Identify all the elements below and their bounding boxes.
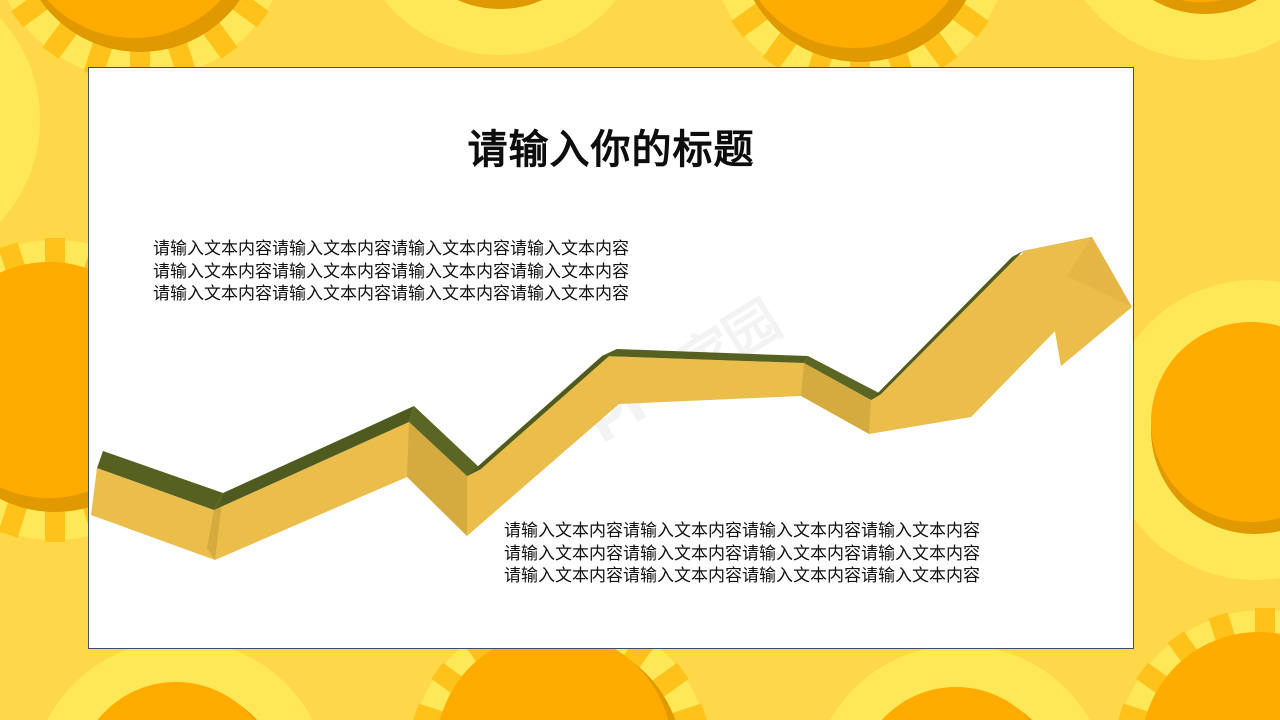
body-text-top: 请输入文本内容请输入文本内容请输入文本内容请输入文本内容 请输入文本内容请输入文… (153, 238, 629, 306)
arrow-head (971, 237, 1132, 417)
page-title: 请输入你的标题 (89, 128, 1133, 172)
slide-canvas: PPT家园 (0, 0, 1280, 720)
body-text-top-line: 请输入文本内容请输入文本内容请输入文本内容请输入文本内容 (153, 283, 629, 306)
body-text-bottom-line: 请输入文本内容请输入文本内容请输入文本内容请输入文本内容 (504, 565, 980, 588)
slide-content-panel: PPT家园 (88, 67, 1134, 649)
body-text-top-line: 请输入文本内容请输入文本内容请输入文本内容请输入文本内容 (153, 261, 629, 284)
body-text-bottom: 请输入文本内容请输入文本内容请输入文本内容请输入文本内容 请输入文本内容请输入文… (504, 520, 980, 588)
body-text-bottom-line: 请输入文本内容请输入文本内容请输入文本内容请输入文本内容 (504, 543, 980, 566)
body-text-bottom-line: 请输入文本内容请输入文本内容请输入文本内容请输入文本内容 (504, 520, 980, 543)
body-text-top-line: 请输入文本内容请输入文本内容请输入文本内容请输入文本内容 (153, 238, 629, 261)
